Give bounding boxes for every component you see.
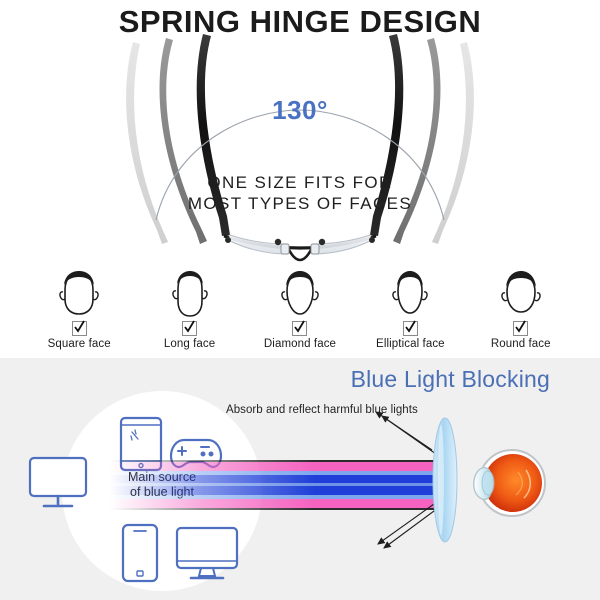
face-diamond-icon [272, 268, 328, 320]
face-type-list: Square face Long face [0, 268, 600, 350]
face-square-icon [51, 268, 107, 320]
product-infographic: SPRING HINGE DESIGN [0, 0, 600, 600]
tagline-line-2: MOST TYPES OF FACES [0, 193, 600, 214]
desktop-computer-icon [175, 526, 239, 582]
hinge-angle-value: 130° [0, 95, 600, 126]
tv-monitor-icon [28, 454, 90, 510]
tagline-line-1: ONE SIZE FITS FOR [0, 172, 600, 193]
face-type-checkbox[interactable] [72, 321, 87, 336]
human-eye-cross-section-icon [466, 446, 552, 520]
face-type-item-elliptical: Elliptical face [358, 268, 462, 350]
face-type-item-long: Long face [138, 268, 242, 350]
face-elliptical-icon [382, 268, 438, 320]
spring-hinge-section: SPRING HINGE DESIGN [0, 0, 600, 358]
face-type-label: Long face [164, 338, 215, 350]
face-long-icon [162, 268, 218, 320]
face-type-checkbox[interactable] [513, 321, 528, 336]
face-type-label: Diamond face [264, 338, 336, 350]
section-heading: Blue Light Blocking [351, 366, 550, 393]
tagline: ONE SIZE FITS FOR MOST TYPES OF FACES [0, 172, 600, 214]
face-round-icon [493, 268, 549, 320]
frame-front [224, 235, 376, 260]
face-type-label: Elliptical face [376, 338, 445, 350]
face-type-item-diamond: Diamond face [248, 268, 352, 350]
face-type-label: Round face [491, 338, 551, 350]
smartphone-icon [120, 523, 160, 583]
blue-light-section: Blue Light Blocking [0, 358, 600, 600]
face-type-checkbox[interactable] [292, 321, 307, 336]
face-type-label: Square face [48, 338, 111, 350]
blue-light-lens-icon [424, 416, 466, 544]
face-type-item-round: Round face [469, 268, 573, 350]
face-type-checkbox[interactable] [403, 321, 418, 336]
face-type-checkbox[interactable] [182, 321, 197, 336]
face-type-item-square: Square face [27, 268, 131, 350]
